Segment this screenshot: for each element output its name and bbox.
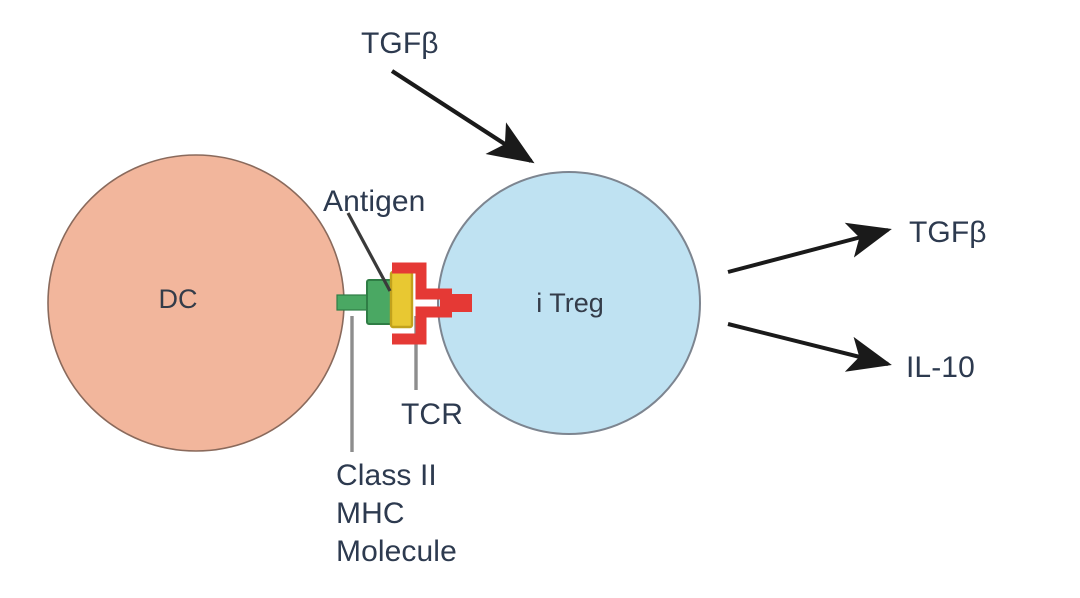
diagram-canvas: DC i Treg TGFβ Antigen TCR Class II MHC …	[0, 0, 1080, 598]
tgfb-input-label: TGFβ	[361, 25, 439, 63]
dc-cell-label: DC	[118, 284, 238, 315]
antigen-label: Antigen	[323, 183, 425, 221]
il10-output-arrow	[728, 324, 888, 364]
tcr-label: TCR	[401, 396, 463, 434]
itreg-cell-label: i Treg	[500, 288, 640, 319]
tgfb-output-label: TGFβ	[909, 214, 987, 252]
il10-output-label: IL-10	[906, 349, 975, 387]
tgfb-input-arrow	[392, 71, 531, 161]
tgfb-output-arrow	[728, 230, 888, 272]
mhc-molecule-label: Class II MHC Molecule	[336, 457, 457, 570]
antigen-block	[391, 272, 412, 327]
tcr-stem	[440, 294, 472, 312]
